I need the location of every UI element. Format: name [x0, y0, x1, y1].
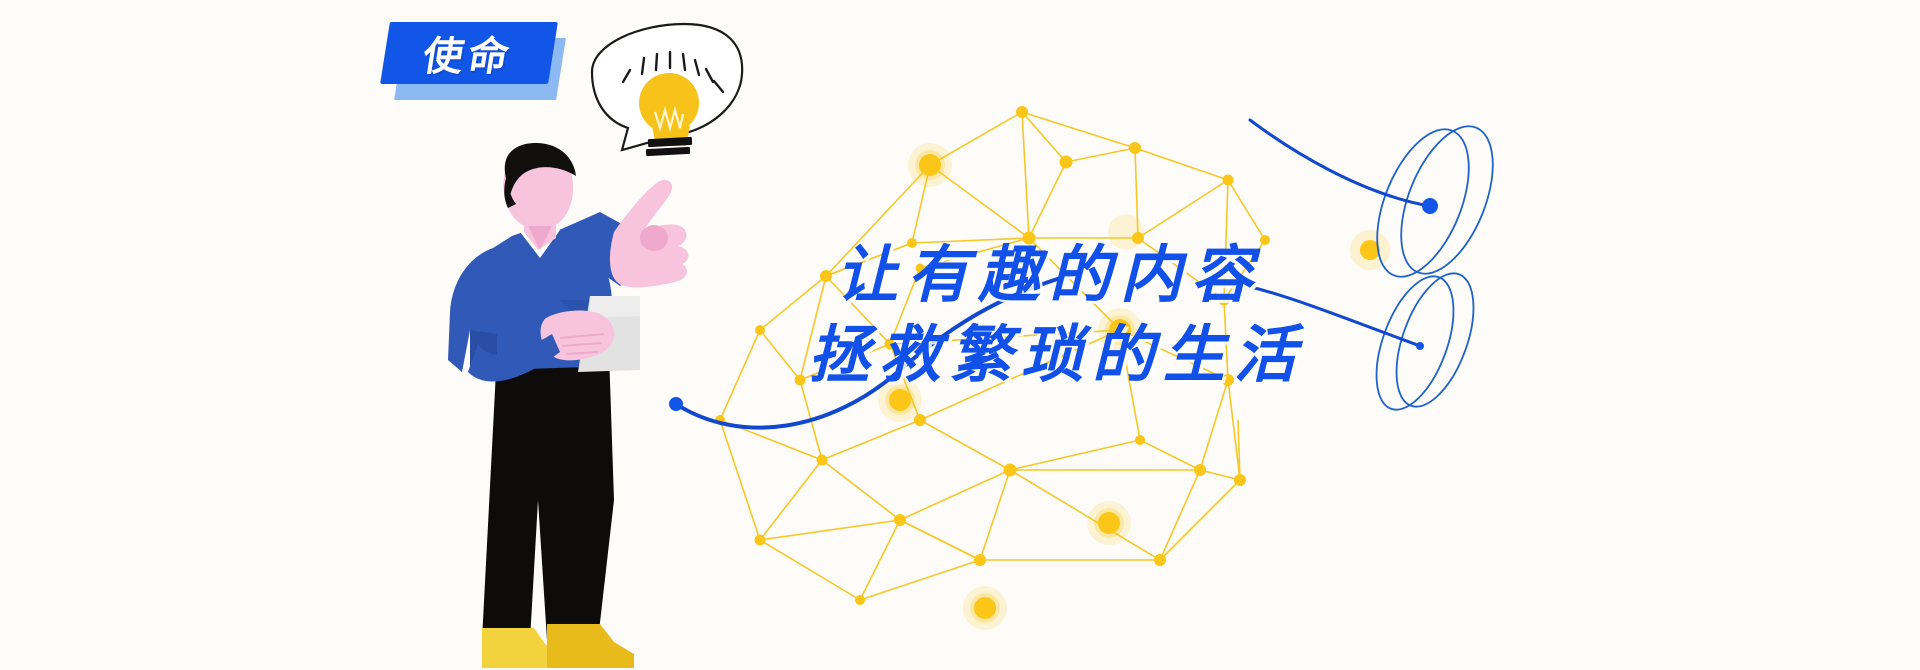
- mission-banner: 使命 让有趣的内容 拯救繁琐的生活: [0, 0, 1920, 670]
- lightbulb-icon: [623, 52, 723, 156]
- mission-badge: 使命: [385, 12, 575, 104]
- badge-label: 使命: [380, 22, 558, 84]
- headline: 让有趣的内容 拯救繁琐的生活: [836, 236, 1396, 396]
- headline-line-2: 拯救繁琐的生活: [808, 316, 1396, 396]
- headline-line-1: 让有趣的内容: [836, 236, 1396, 316]
